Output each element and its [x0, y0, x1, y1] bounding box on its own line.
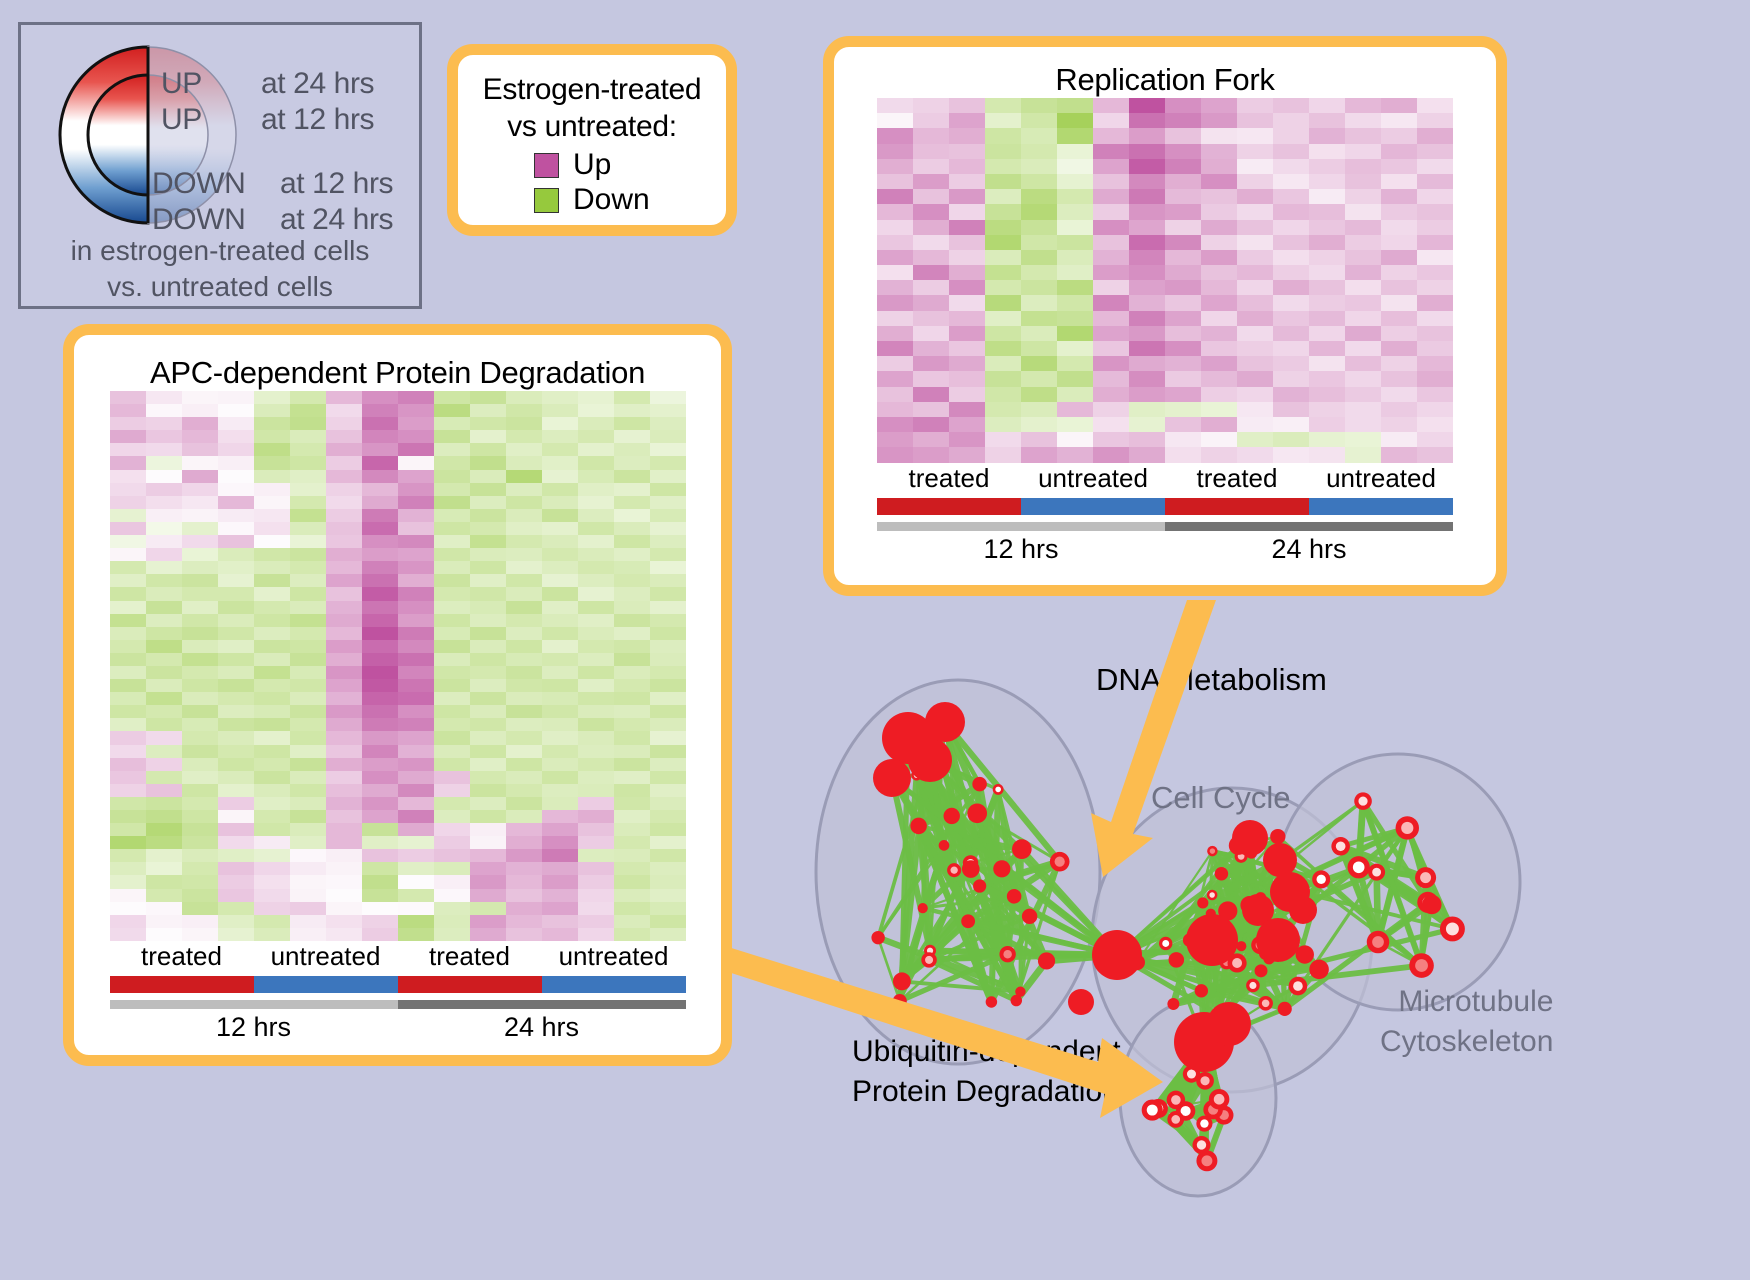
network-node — [1186, 914, 1238, 966]
heatmap-cell — [578, 902, 614, 915]
heatmap-cell — [506, 810, 542, 823]
heatmap-cell — [506, 404, 542, 417]
heatmap-cell — [110, 849, 146, 862]
heatmap-cell — [326, 574, 362, 587]
heatmap-cell — [470, 456, 506, 469]
heatmap-cell — [1345, 159, 1381, 174]
heatmap-cell — [1201, 174, 1237, 189]
color-key-footer-line1: in estrogen-treated cells — [21, 233, 419, 269]
network-node-core — [1372, 868, 1381, 877]
heatmap-cell — [985, 417, 1021, 432]
heatmap-cell — [398, 731, 434, 744]
heatmap-cell — [542, 731, 578, 744]
heatmap-cell — [1093, 144, 1129, 159]
heatmap-cell — [1309, 174, 1345, 189]
heatmap-cell — [326, 875, 362, 888]
heatmap-cell — [290, 679, 326, 692]
heatmap-cell — [1273, 326, 1309, 341]
heatmap-cell — [985, 128, 1021, 143]
condition-label-4: untreated — [542, 941, 686, 972]
heatmap-cell — [398, 875, 434, 888]
heatmap-cell — [985, 98, 1021, 113]
heatmap-cell — [1309, 113, 1345, 128]
heatmap-cell — [218, 666, 254, 679]
heatmap-cell — [362, 915, 398, 928]
heatmap-cell — [434, 522, 470, 535]
heatmap-cell — [290, 535, 326, 548]
heatmap-cell — [1309, 417, 1345, 432]
network-node — [893, 994, 907, 1008]
heatmap-cell — [1165, 326, 1201, 341]
heatmap-cell — [362, 496, 398, 509]
heatmap-cell — [326, 443, 362, 456]
heatmap-cell — [182, 496, 218, 509]
heatmap-cell — [949, 417, 985, 432]
heatmap-cell — [110, 509, 146, 522]
heatmap-cell — [506, 391, 542, 404]
heatmap-cell — [1381, 387, 1417, 402]
network-node — [1068, 989, 1094, 1015]
heatmap-cell — [506, 745, 542, 758]
heatmap-cell — [542, 823, 578, 836]
heatmap-cell — [218, 640, 254, 653]
time-bar-24hrs — [1165, 522, 1453, 531]
heatmap-cell — [146, 731, 182, 744]
heatmap-cell — [254, 456, 290, 469]
heatmap-cell — [650, 509, 686, 522]
heatmap-cell — [1093, 113, 1129, 128]
heatmap-cell — [218, 561, 254, 574]
heatmap-cell — [1093, 128, 1129, 143]
heatmap-cell — [985, 280, 1021, 295]
heatmap-cell — [146, 745, 182, 758]
heatmap-cell — [1417, 113, 1453, 128]
network-node — [1256, 918, 1300, 962]
heatmap-cell — [650, 587, 686, 600]
heatmap-cell — [913, 432, 949, 447]
heatmap-cell — [362, 692, 398, 705]
heatmap-cell — [542, 561, 578, 574]
heatmap-cell — [146, 875, 182, 888]
heatmap-cell — [614, 810, 650, 823]
heatmap-cell — [470, 836, 506, 849]
heatmap-cell — [398, 653, 434, 666]
heatmap-cell — [182, 391, 218, 404]
heatmap-cell — [1129, 356, 1165, 371]
heatmap-cell — [614, 417, 650, 430]
heatmap-cell — [877, 402, 913, 417]
heatmap-cell — [1417, 326, 1453, 341]
network-node-core — [1446, 922, 1459, 935]
heatmap-cell — [1417, 189, 1453, 204]
heatmap-cell — [1417, 295, 1453, 310]
heatmap-cell — [542, 640, 578, 653]
condition-color-bar — [110, 976, 686, 993]
heatmap-cell — [434, 797, 470, 810]
key-time-down-24: at 24 hrs — [280, 203, 393, 237]
heatmap-cell — [877, 204, 913, 219]
heatmap-cell — [985, 432, 1021, 447]
time-labels: 12 hrs 24 hrs — [110, 1012, 686, 1043]
heatmap-cell — [398, 836, 434, 849]
heatmap-cell — [110, 797, 146, 810]
heatmap-cell — [877, 189, 913, 204]
network-node-core — [1232, 958, 1242, 968]
heatmap-cell — [1237, 189, 1273, 204]
heatmap-cell — [110, 522, 146, 535]
heatmap-cell — [877, 341, 913, 356]
heatmap-cell — [110, 640, 146, 653]
heatmap-cell — [362, 404, 398, 417]
heatmap-cell — [985, 402, 1021, 417]
heatmap-cell — [398, 640, 434, 653]
heatmap-cell — [326, 587, 362, 600]
heatmap-cell — [398, 849, 434, 862]
heatmap-cell — [650, 666, 686, 679]
heatmap-cell — [1273, 189, 1309, 204]
heatmap-cell — [913, 235, 949, 250]
heatmap-cell — [218, 483, 254, 496]
time-color-bar — [877, 522, 1453, 531]
heatmap-cell — [434, 666, 470, 679]
heatmap-cell — [1129, 402, 1165, 417]
heatmap-cell — [650, 810, 686, 823]
heatmap-cell — [254, 705, 290, 718]
heatmap-cell — [1057, 371, 1093, 386]
network-node — [1022, 909, 1037, 924]
heatmap-cell — [1165, 174, 1201, 189]
heatmap-cell — [290, 731, 326, 744]
heatmap-cell — [146, 915, 182, 928]
heatmap-cell — [398, 797, 434, 810]
heatmap-cell — [1165, 250, 1201, 265]
heatmap-cell — [182, 456, 218, 469]
heatmap-cell — [398, 587, 434, 600]
heatmap-cell — [1237, 280, 1273, 295]
heatmap-cell — [650, 771, 686, 784]
heatmap-cell — [182, 836, 218, 849]
heatmap-cell — [506, 902, 542, 915]
heatmap-cell — [949, 235, 985, 250]
heatmap-cell — [1201, 341, 1237, 356]
heatmap-cell — [218, 548, 254, 561]
network-node — [1207, 1002, 1251, 1046]
heatmap-cell — [398, 470, 434, 483]
heatmap-cell — [614, 705, 650, 718]
heatmap-cell — [290, 587, 326, 600]
heatmap-cell — [1417, 250, 1453, 265]
heatmap-cell — [913, 174, 949, 189]
pathway-network-graph: DNA Metabolism Cell Cycle Microtubule Cy… — [780, 610, 1740, 1275]
heatmap-cell — [1021, 295, 1057, 310]
heatmap-cell — [182, 705, 218, 718]
heatmap-cell — [1273, 128, 1309, 143]
heatmap-cell — [1345, 98, 1381, 113]
key-time-up-12: at 12 hrs — [261, 103, 374, 137]
heatmap-cell — [913, 311, 949, 326]
estrogen-legend-panel: Estrogen-treated vs untreated: Up Down — [447, 44, 737, 236]
heatmap-cell — [398, 496, 434, 509]
heatmap-cell — [877, 174, 913, 189]
heatmap-cell — [254, 718, 290, 731]
heatmap-cell — [985, 371, 1021, 386]
heatmap-cell — [614, 456, 650, 469]
heatmap-cell — [877, 295, 913, 310]
heatmap-cell — [110, 692, 146, 705]
heatmap-cell — [1057, 220, 1093, 235]
heatmap-cell — [614, 666, 650, 679]
heatmap-cell — [578, 574, 614, 587]
color-key-footer: in estrogen-treated cells vs. untreated … — [21, 233, 419, 305]
heatmap-cell — [146, 810, 182, 823]
heatmap-cell — [1273, 295, 1309, 310]
heatmap-cell — [542, 522, 578, 535]
heatmap-cell — [1381, 402, 1417, 417]
heatmap-cell — [434, 496, 470, 509]
heatmap-cell — [1345, 113, 1381, 128]
heatmap-cell — [650, 496, 686, 509]
heatmap-cell — [362, 862, 398, 875]
heatmap-cell — [542, 509, 578, 522]
heatmap-cell — [542, 758, 578, 771]
heatmap-cell — [1417, 265, 1453, 280]
heatmap-cell — [362, 470, 398, 483]
apc-degradation-title: APC-dependent Protein Degradation — [74, 355, 721, 391]
heatmap-cell — [290, 483, 326, 496]
time-bar-24hrs — [398, 1000, 686, 1009]
apc-degradation-panel: APC-dependent Protein Degradation treate… — [63, 324, 732, 1066]
heatmap-cell — [614, 889, 650, 902]
time-label-24: 24 hrs — [398, 1012, 686, 1043]
heatmap-cell — [650, 823, 686, 836]
heatmap-cell — [326, 561, 362, 574]
heatmap-cell — [913, 280, 949, 295]
heatmap-cell — [542, 705, 578, 718]
heatmap-cell — [1021, 159, 1057, 174]
heatmap-cell — [218, 614, 254, 627]
replication-fork-heatmap — [877, 98, 1453, 463]
heatmap-cell — [1129, 235, 1165, 250]
heatmap-cell — [110, 561, 146, 574]
heatmap-cell — [146, 522, 182, 535]
heatmap-cell — [182, 522, 218, 535]
heatmap-cell — [578, 443, 614, 456]
heatmap-cell — [326, 705, 362, 718]
heatmap-cell — [398, 679, 434, 692]
heatmap-cell — [470, 627, 506, 640]
heatmap-cell — [254, 875, 290, 888]
condition-bar-untreated-24 — [1309, 498, 1453, 515]
heatmap-cell — [542, 404, 578, 417]
heatmap-cell — [470, 875, 506, 888]
heatmap-cell — [1417, 220, 1453, 235]
heatmap-cell — [1165, 128, 1201, 143]
heatmap-cell — [1057, 311, 1093, 326]
heatmap-cell — [182, 483, 218, 496]
heatmap-cell — [506, 692, 542, 705]
heatmap-cell — [578, 483, 614, 496]
heatmap-cell — [218, 862, 254, 875]
heatmap-cell — [1021, 311, 1057, 326]
heatmap-cell — [949, 144, 985, 159]
network-node — [986, 996, 997, 1007]
heatmap-cell — [254, 548, 290, 561]
heatmap-cell — [1129, 432, 1165, 447]
heatmap-cell — [470, 574, 506, 587]
heatmap-cell — [1345, 265, 1381, 280]
heatmap-cell — [218, 771, 254, 784]
heatmap-cell — [398, 692, 434, 705]
heatmap-cell — [290, 430, 326, 443]
heatmap-cell — [1201, 220, 1237, 235]
heatmap-cell — [1345, 144, 1381, 159]
heatmap-cell — [614, 601, 650, 614]
heatmap-cell — [290, 692, 326, 705]
heatmap-cell — [1309, 341, 1345, 356]
heatmap-cell — [110, 705, 146, 718]
condition-bar-untreated-12 — [1021, 498, 1165, 515]
heatmap-cell — [985, 144, 1021, 159]
heatmap-cell — [254, 784, 290, 797]
heatmap-cell — [470, 731, 506, 744]
heatmap-cell — [218, 758, 254, 771]
heatmap-cell — [398, 404, 434, 417]
heatmap-cell — [182, 430, 218, 443]
heatmap-cell — [1345, 371, 1381, 386]
heatmap-cell — [650, 614, 686, 627]
heatmap-cell — [614, 470, 650, 483]
heatmap-cell — [434, 875, 470, 888]
heatmap-cell — [110, 496, 146, 509]
heatmap-cell — [434, 758, 470, 771]
heatmap-cell — [146, 889, 182, 902]
heatmap-cell — [362, 875, 398, 888]
heatmap-cell — [650, 875, 686, 888]
heatmap-cell — [877, 356, 913, 371]
heatmap-cell — [542, 456, 578, 469]
heatmap-cell — [913, 159, 949, 174]
heatmap-cell — [398, 535, 434, 548]
condition-label-3: treated — [1165, 463, 1309, 494]
heatmap-cell — [1237, 326, 1273, 341]
heatmap-cell — [290, 915, 326, 928]
heatmap-cell — [1129, 174, 1165, 189]
heatmap-cell — [578, 836, 614, 849]
heatmap-cell — [470, 679, 506, 692]
replication-fork-panel: Replication Fork treated untreated treat… — [823, 36, 1507, 596]
heatmap-cell — [614, 731, 650, 744]
heatmap-cell — [1309, 250, 1345, 265]
heatmap-cell — [542, 784, 578, 797]
heatmap-cell — [182, 574, 218, 587]
heatmap-cell — [326, 784, 362, 797]
network-node-core — [1401, 822, 1413, 834]
heatmap-cell — [470, 470, 506, 483]
legend-title-line1: Estrogen-treated — [458, 71, 726, 108]
heatmap-cell — [1057, 295, 1093, 310]
heatmap-cell — [182, 509, 218, 522]
heatmap-cell — [542, 902, 578, 915]
heatmap-cell — [578, 692, 614, 705]
heatmap-cell — [949, 159, 985, 174]
condition-label-4: untreated — [1309, 463, 1453, 494]
heatmap-cell — [542, 601, 578, 614]
heatmap-cell — [506, 875, 542, 888]
heatmap-cell — [1093, 432, 1129, 447]
heatmap-cell — [650, 889, 686, 902]
heatmap-cell — [1129, 371, 1165, 386]
heatmap-cell — [506, 758, 542, 771]
heatmap-cell — [326, 640, 362, 653]
heatmap-cell — [290, 666, 326, 679]
heatmap-cell — [506, 928, 542, 941]
heatmap-cell — [877, 235, 913, 250]
heatmap-cell — [254, 640, 290, 653]
heatmap-cell — [578, 391, 614, 404]
heatmap-cell — [1345, 387, 1381, 402]
heatmap-cell — [434, 889, 470, 902]
heatmap-cell — [326, 456, 362, 469]
heatmap-cell — [182, 627, 218, 640]
heatmap-cell — [362, 771, 398, 784]
heatmap-cell — [1273, 356, 1309, 371]
heatmap-cell — [434, 928, 470, 941]
heatmap-cell — [362, 522, 398, 535]
heatmap-cell — [985, 189, 1021, 204]
heatmap-cell — [506, 731, 542, 744]
heatmap-cell — [218, 731, 254, 744]
heatmap-cell — [182, 849, 218, 862]
heatmap-cell — [1093, 174, 1129, 189]
heatmap-cell — [949, 250, 985, 265]
heatmap-cell — [434, 456, 470, 469]
heatmap-cell — [506, 640, 542, 653]
heatmap-cell — [470, 653, 506, 666]
heatmap-cell — [1417, 128, 1453, 143]
heatmap-cell — [1237, 417, 1273, 432]
heatmap-cell — [254, 587, 290, 600]
heatmap-cell — [290, 653, 326, 666]
heatmap-cell — [1237, 295, 1273, 310]
color-key-footer-line2: vs. untreated cells — [21, 269, 419, 305]
heatmap-cell — [913, 447, 949, 462]
heatmap-cell — [110, 601, 146, 614]
heatmap-cell — [985, 341, 1021, 356]
heatmap-cell — [949, 341, 985, 356]
heatmap-cell — [398, 810, 434, 823]
heatmap-cell — [542, 574, 578, 587]
heatmap-cell — [1237, 144, 1273, 159]
heatmap-cell — [1309, 295, 1345, 310]
heatmap-cell — [254, 862, 290, 875]
heatmap-cell — [1273, 371, 1309, 386]
heatmap-cell — [326, 928, 362, 941]
heatmap-cell — [218, 417, 254, 430]
heatmap-cell — [218, 902, 254, 915]
heatmap-cell — [362, 587, 398, 600]
heatmap-cell — [1417, 204, 1453, 219]
heatmap-cell — [1345, 432, 1381, 447]
network-node — [1255, 964, 1268, 977]
heatmap-cell — [110, 666, 146, 679]
heatmap-cell — [146, 666, 182, 679]
heatmap-cell — [1417, 98, 1453, 113]
heatmap-cell — [578, 640, 614, 653]
heatmap-cell — [913, 204, 949, 219]
heatmap-cell — [326, 522, 362, 535]
network-node — [993, 860, 1010, 877]
key-label-down-24: DOWN — [152, 203, 245, 237]
